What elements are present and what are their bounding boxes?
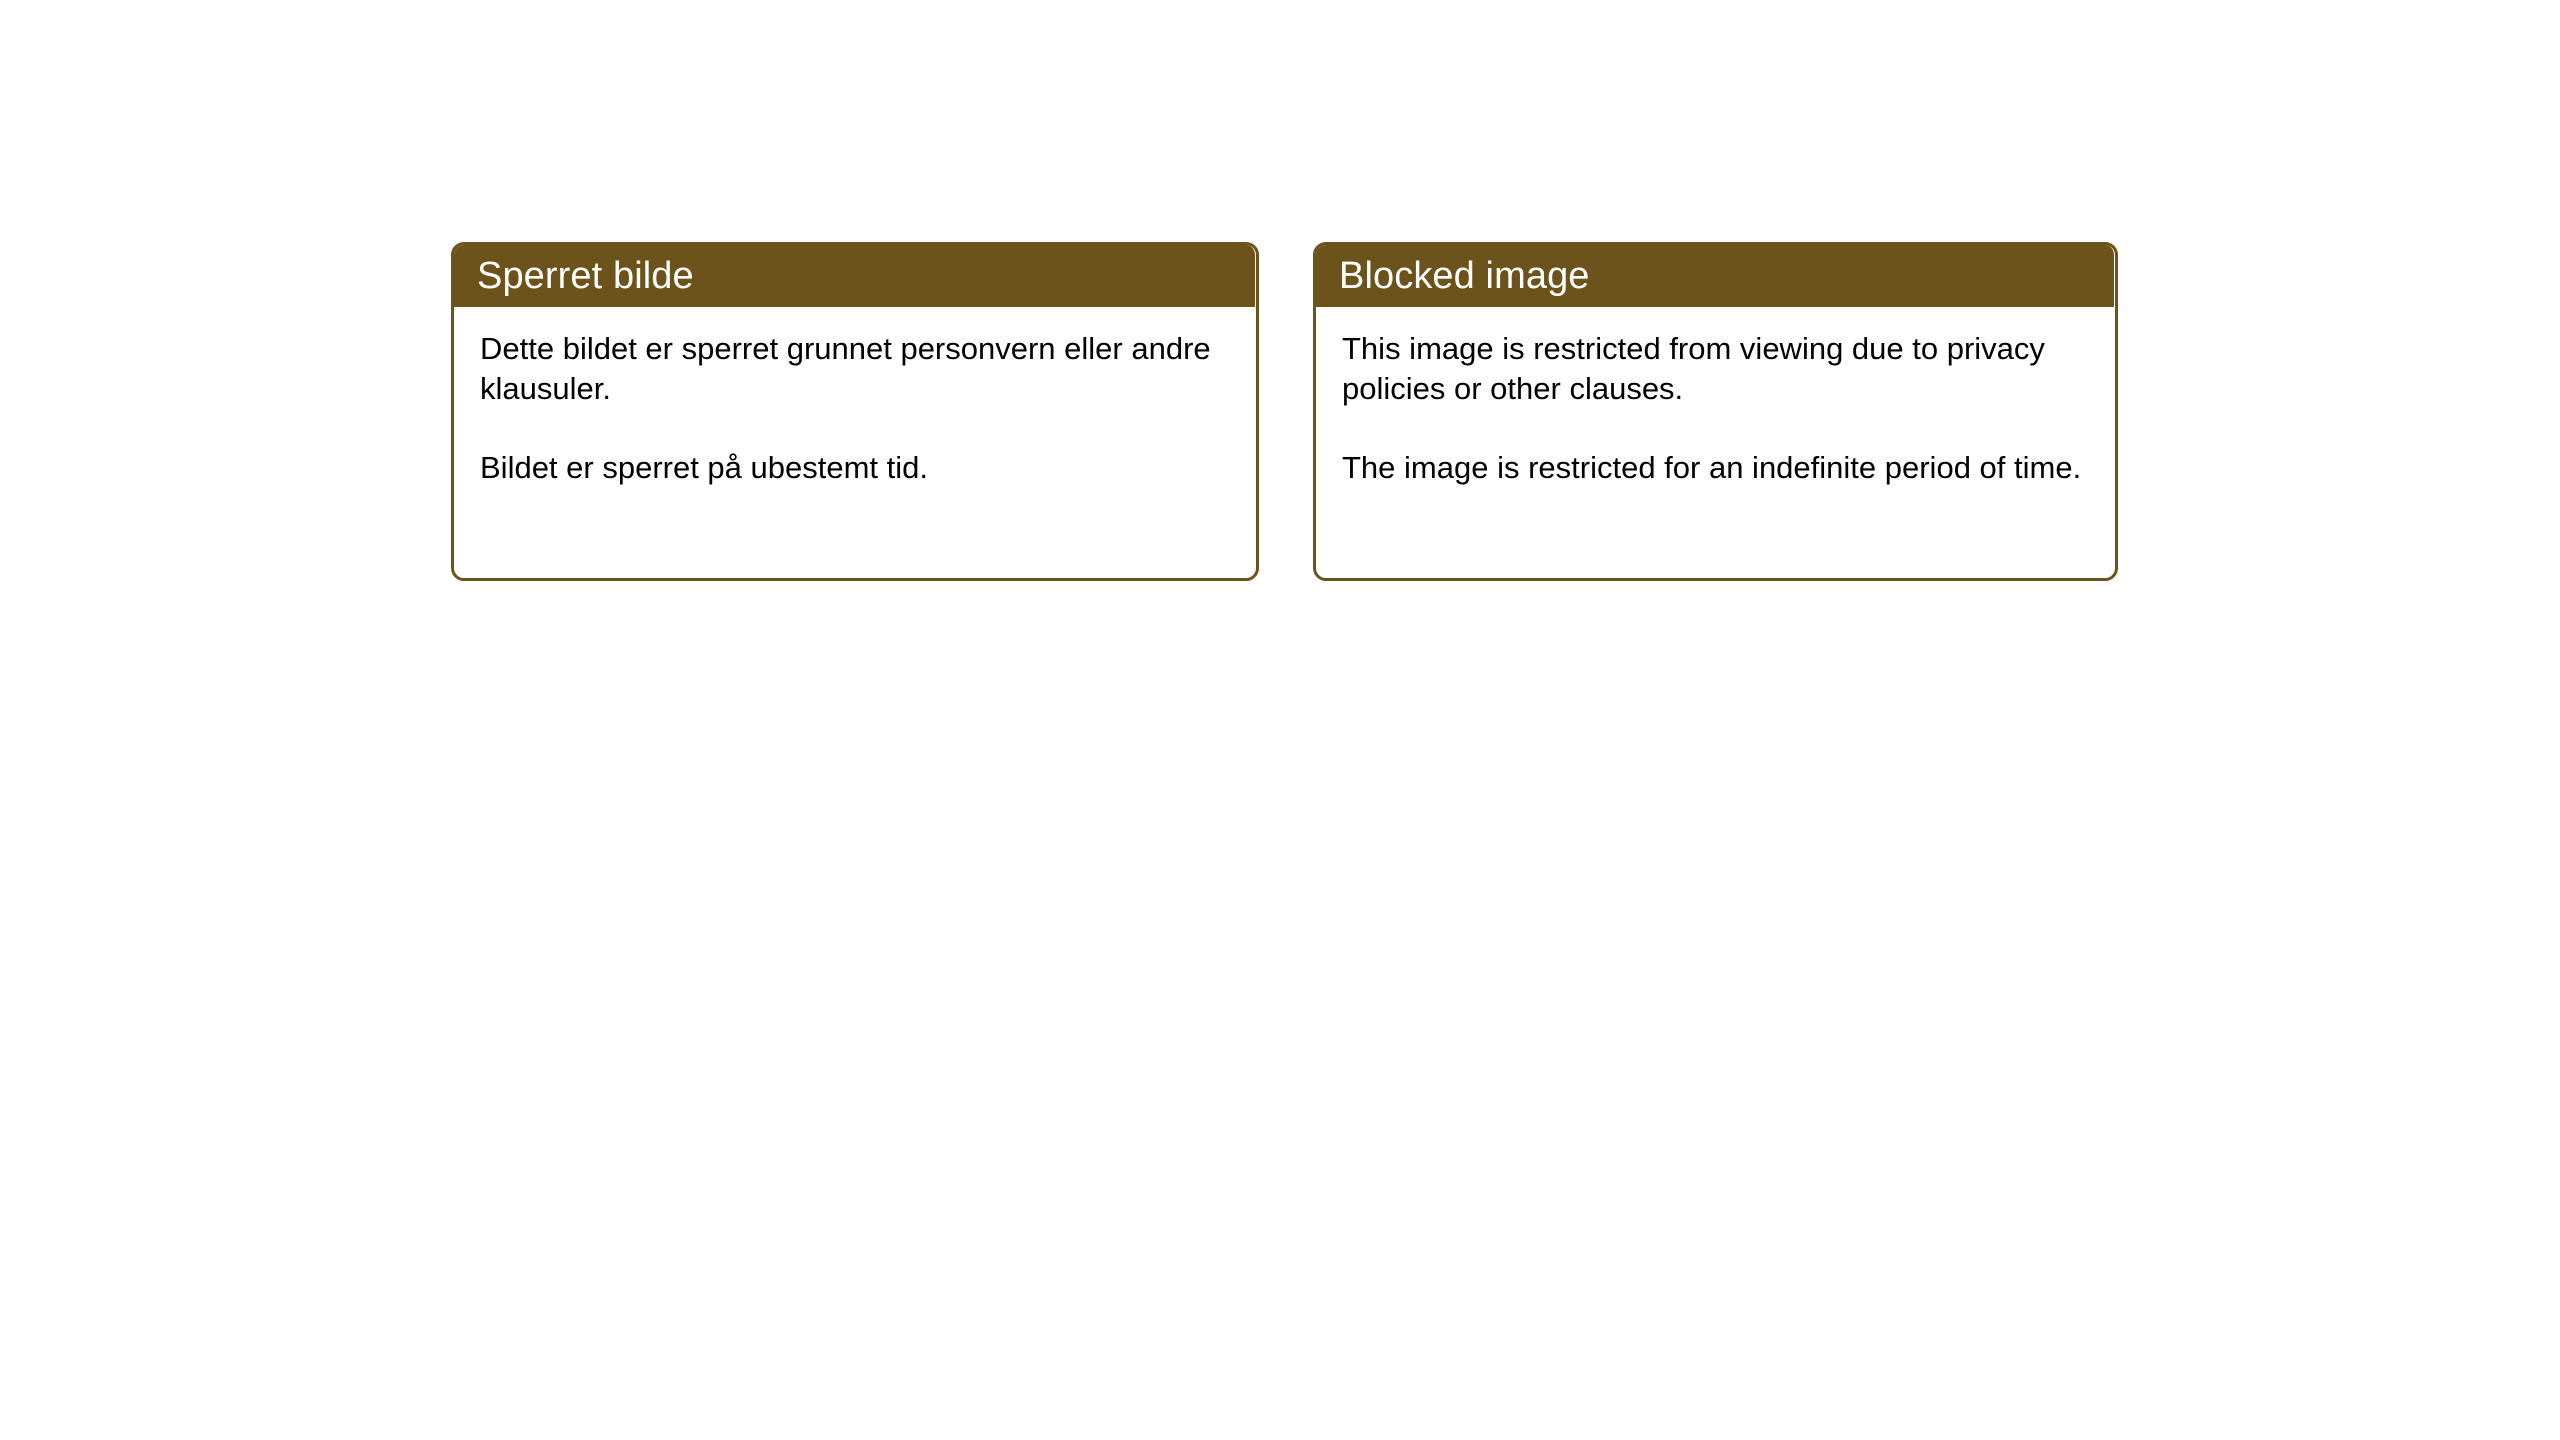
blocked-image-notice-norwegian: Sperret bilde Dette bildet er sperret gr…: [451, 242, 1259, 581]
notice-body-norwegian: Dette bildet er sperret grunnet personve…: [454, 307, 1256, 488]
notice-title-english: Blocked image: [1339, 257, 1590, 295]
notice-header-english: Blocked image: [1315, 244, 2114, 307]
notice-title-norwegian: Sperret bilde: [477, 257, 694, 295]
notice-paragraph-reason-norwegian: Dette bildet er sperret grunnet personve…: [480, 329, 1220, 410]
notice-paragraph-duration-english: The image is restricted for an indefinit…: [1342, 448, 2082, 488]
page-root: Sperret bilde Dette bildet er sperret gr…: [0, 0, 2560, 1440]
notice-header-norwegian: Sperret bilde: [453, 244, 1255, 307]
notice-paragraph-reason-english: This image is restricted from viewing du…: [1342, 329, 2082, 410]
notice-paragraph-duration-norwegian: Bildet er sperret på ubestemt tid.: [480, 448, 1220, 488]
blocked-image-notice-english: Blocked image This image is restricted f…: [1313, 242, 2118, 581]
notice-body-english: This image is restricted from viewing du…: [1316, 307, 2115, 488]
